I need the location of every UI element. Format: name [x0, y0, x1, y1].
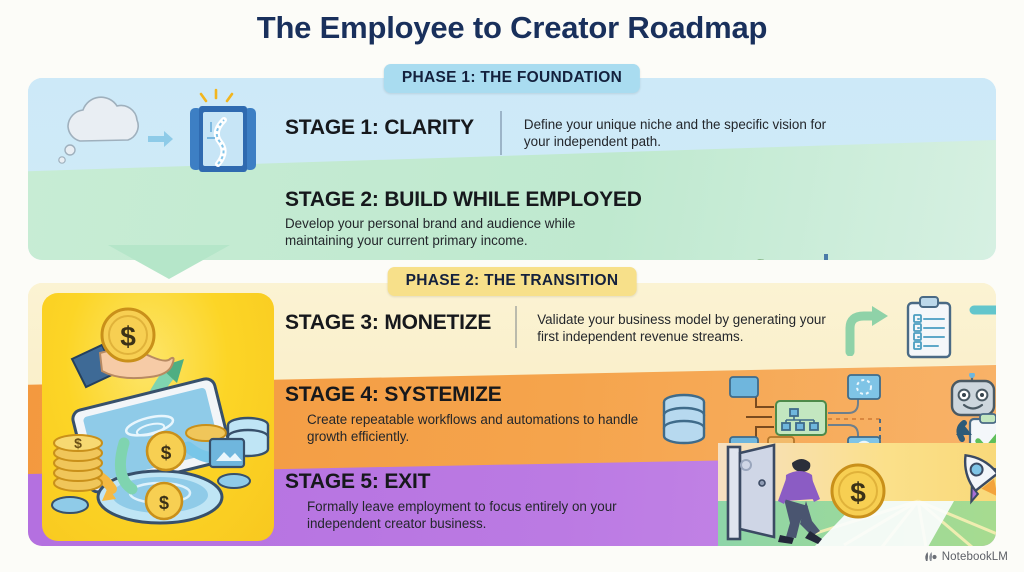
office-building-icon	[804, 252, 890, 260]
arrow-right-icon	[148, 131, 173, 147]
robot-icon	[952, 373, 994, 415]
stage-3-icons	[836, 295, 996, 359]
phase-connector	[108, 245, 230, 285]
clipboard-checklist-icon	[900, 295, 958, 359]
phase-1-card: $	[28, 78, 996, 260]
stage-1-divider	[500, 111, 502, 155]
svg-text:$: $	[120, 321, 136, 352]
stage-2-title: STAGE 2: BUILD WHILE EMPLOYED	[285, 188, 642, 212]
stage-3-title: STAGE 3: MONETIZE	[285, 303, 491, 335]
stage-1-illustration	[28, 78, 290, 188]
stage-3-divider	[515, 306, 517, 348]
notebooklm-logo-icon	[923, 550, 937, 563]
stage-4-title: STAGE 4: SYSTEMIZE	[285, 383, 502, 407]
stage-4-row: STAGE 4: SYSTEMIZE Create repeatable wor…	[285, 383, 667, 446]
watermark-label: NotebookLM	[942, 551, 1008, 563]
stage-3-row: STAGE 3: MONETIZE Validate your business…	[285, 303, 837, 351]
stage-2-row: STAGE 2: BUILD WHILE EMPLOYED Develop yo…	[285, 188, 645, 250]
stage-5-icons: $	[718, 443, 996, 546]
page-title: The Employee to Creator Roadmap	[0, 10, 1024, 46]
sprouting-plant-icon	[716, 253, 790, 260]
watermark: NotebookLM	[923, 550, 1008, 563]
infographic-root: The Employee to Creator Roadmap	[0, 0, 1024, 572]
dollar-coin-icon: $	[940, 259, 996, 260]
stage-3-desc: Validate your business model by generati…	[537, 303, 837, 346]
stage-2-desc: Develop your personal brand and audience…	[285, 215, 645, 250]
svg-text:$: $	[850, 477, 866, 508]
stage-1-desc: Define your unique niche and the specifi…	[524, 107, 844, 151]
stage-5-title: STAGE 5: EXIT	[285, 470, 430, 494]
stage-1-row: STAGE 1: CLARITY Define your unique nich…	[285, 107, 844, 159]
stage-1-title: STAGE 1: CLARITY	[285, 107, 474, 140]
curved-arrow-icon	[836, 298, 890, 356]
monetization-illustration: $	[42, 293, 274, 541]
stage-5-desc: Formally leave employment to focus entir…	[307, 498, 687, 533]
blueprint-roadmap-icon	[190, 90, 256, 172]
phase-2-badge: PHASE 2: THE TRANSITION	[388, 267, 637, 296]
stage-4-desc: Create repeatable workflows and automati…	[307, 411, 667, 446]
svg-text:$: $	[74, 435, 82, 451]
dollar-coin-icon: $	[832, 465, 884, 517]
svg-text:$: $	[161, 443, 172, 464]
svg-text:$: $	[159, 493, 169, 513]
phase-2-card: $	[28, 283, 996, 546]
open-door-icon	[728, 445, 774, 539]
phase-1-badge: PHASE 1: THE FOUNDATION	[384, 64, 640, 93]
thought-cloud-icon	[59, 97, 138, 163]
stage-2-icons: $	[716, 250, 996, 260]
curved-arrow-down-icon	[968, 296, 996, 358]
stage-5-row: STAGE 5: EXIT Formally leave employment …	[285, 470, 687, 533]
